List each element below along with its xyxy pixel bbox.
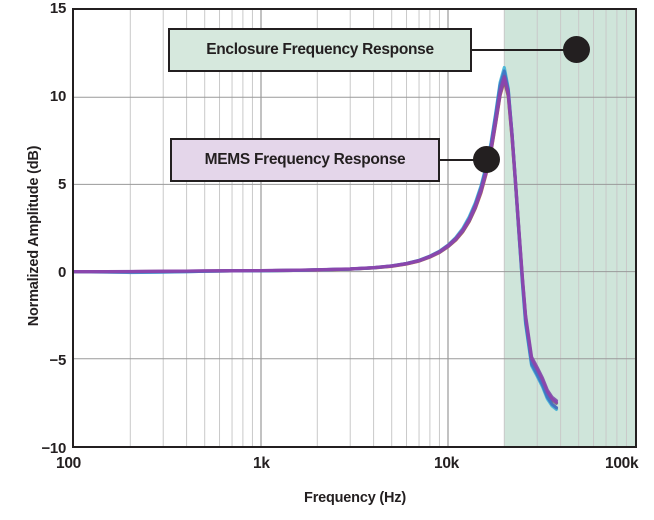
y-tick-10: 10: [20, 89, 66, 104]
callout-mems[interactable]: MEMS Frequency Response: [170, 138, 440, 182]
x-tick-100: 100: [56, 456, 81, 472]
plot-area: [72, 8, 637, 448]
chart-root: Normalized Amplitude (dB) 15 10 5 0 −5 −…: [0, 0, 654, 520]
y-tick-labels: 15 10 5 0 −5 −10: [0, 0, 66, 520]
series-trace-cyan: [74, 68, 556, 410]
series-trace-violet: [74, 76, 556, 400]
callout-marker-enclosure: [563, 36, 590, 63]
y-tick-neg10: −10: [20, 441, 66, 456]
leader-line-enclosure: [472, 49, 575, 51]
y-tick-5: 5: [20, 177, 66, 192]
callout-enclosure[interactable]: Enclosure Frequency Response: [168, 28, 472, 72]
y-tick-15: 15: [20, 1, 66, 16]
series-trace-gray: [74, 80, 556, 404]
series-trace-purple: [74, 78, 556, 402]
x-tick-100k: 100k: [605, 456, 638, 472]
callout-marker-mems: [473, 146, 500, 173]
series-trace-blue: [74, 71, 556, 408]
chart-svg: [74, 10, 635, 446]
x-axis-title: Frequency (Hz): [72, 490, 638, 506]
x-tick-1k: 1k: [253, 456, 270, 472]
series-trace-orange: [74, 81, 556, 409]
y-tick-0: 0: [20, 265, 66, 280]
plot-inner: [74, 10, 635, 446]
x-tick-10k: 10k: [434, 456, 459, 472]
shaded-region: [504, 10, 635, 446]
y-tick-neg5: −5: [20, 353, 66, 368]
